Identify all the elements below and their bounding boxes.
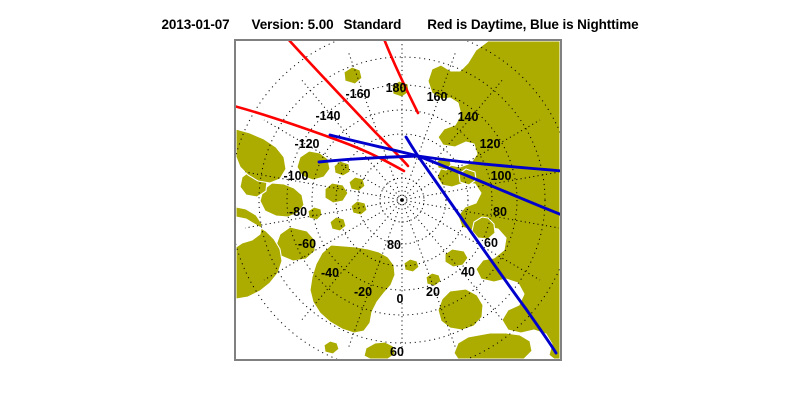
title-date: 2013-01-07 (161, 17, 229, 32)
title-version: Version: 5.00 (252, 17, 334, 32)
polar-map-canvas (236, 41, 560, 359)
title-legend: Red is Daytime, Blue is Nighttime (427, 17, 638, 32)
figure-root: 2013-01-07Version: 5.00StandardRed is Da… (0, 0, 800, 400)
polar-map-panel[interactable] (234, 39, 562, 361)
title-mode: Standard (344, 17, 402, 32)
figure-title: 2013-01-07Version: 5.00StandardRed is Da… (0, 16, 800, 36)
pole-star-marker (400, 198, 404, 202)
